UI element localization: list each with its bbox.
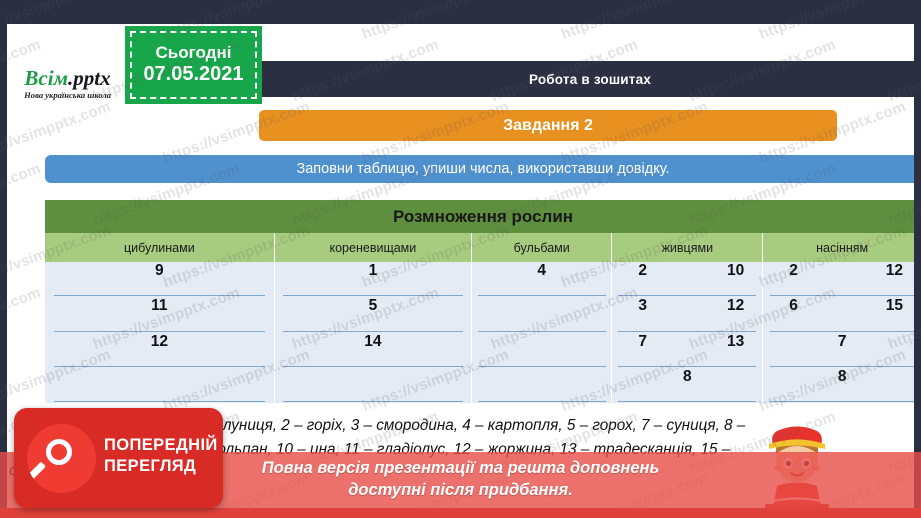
table-cell[interactable] <box>472 368 611 403</box>
table-body: 9111215144210312713821261578 <box>45 262 914 403</box>
watermark-row: https://vsimpptx.comhttps://vsimpptx.com… <box>0 0 921 18</box>
plant-propagation-table: Розмноження рослин цибулинамикореневищам… <box>45 200 914 403</box>
table-cell-value: 14 <box>364 333 381 350</box>
table-column-header: живцями <box>612 233 763 262</box>
table-cell[interactable]: 11 <box>45 297 274 332</box>
brand-logo-tagline: Нова українська школа <box>24 91 111 100</box>
table-cell[interactable]: 8 <box>763 368 914 403</box>
purchase-notice-line2: доступні після придбання. <box>348 480 573 502</box>
slide-viewer: Робота в зошитах Всім.pptx Нова українсь… <box>0 0 921 518</box>
purchase-notice-line1: Повна версія презентації та решта доповн… <box>262 458 660 480</box>
table-cell[interactable] <box>472 297 611 332</box>
today-date-value: 07.05.2021 <box>143 62 243 87</box>
table-column-header: насінням <box>763 233 914 262</box>
magnifier-icon <box>27 424 96 493</box>
table-cell-value: 13 <box>727 333 748 350</box>
table-column-cells: 1514 <box>275 262 472 403</box>
table-title: Розмноження рослин <box>393 207 573 227</box>
today-label: Сьогодні <box>156 43 232 63</box>
magnifier-handle <box>27 462 46 483</box>
table-column-header: цибулинами <box>45 233 275 262</box>
table-cell-value: 2 <box>789 262 798 279</box>
table-cell-value: 8 <box>683 368 692 385</box>
magnifier-lens <box>46 439 72 465</box>
table-cell[interactable]: 1 <box>275 262 471 297</box>
table-cell-value: 7 <box>838 333 847 350</box>
table-cell[interactable]: 12 <box>45 333 274 368</box>
table-cell[interactable]: 210 <box>612 262 762 297</box>
table-cell-value: 1 <box>369 262 378 279</box>
table-cell-value: 9 <box>155 262 164 279</box>
table-cell[interactable]: 14 <box>275 333 471 368</box>
table-cell-value: 4 <box>537 262 546 279</box>
table-cell-value: 8 <box>838 368 847 385</box>
table-cell[interactable]: 8 <box>612 368 762 403</box>
table-cell[interactable]: 9 <box>45 262 274 297</box>
brand-logo-ext: .pptx <box>68 66 111 90</box>
table-column-header: кореневищами <box>275 233 472 262</box>
bottom-red-strip <box>0 508 921 518</box>
table-column-cells: 91112 <box>45 262 275 403</box>
table-title-row: Розмноження рослин <box>45 200 914 233</box>
table-cell-value: 2 <box>638 262 647 279</box>
task-instruction-bar: Заповни таблицю, упиши числа, використав… <box>45 155 914 183</box>
table-cell[interactable]: 312 <box>612 297 762 332</box>
table-cell-value: 3 <box>638 297 647 314</box>
table-cell-value: 11 <box>151 297 167 314</box>
table-header-row: цибулинамикореневищамибульбамиживцяминас… <box>45 233 914 262</box>
task-title-label: Завдання 2 <box>503 117 593 135</box>
table-column-header: бульбами <box>472 233 612 262</box>
table-cell[interactable]: 4 <box>472 262 611 297</box>
table-cell-value: 12 <box>886 262 907 279</box>
table-cell[interactable]: 5 <box>275 297 471 332</box>
table-column-cells: 4 <box>472 262 612 403</box>
table-column-cells: 2103127138 <box>612 262 763 403</box>
table-column-cells: 21261578 <box>763 262 914 403</box>
brand-logo-wordmark: Всім.pptx <box>24 68 110 89</box>
table-cell-value: 12 <box>727 297 748 314</box>
preview-badge-line1: ПОПЕРЕДНІЙ <box>104 435 216 456</box>
table-cell-value: 15 <box>886 297 907 314</box>
slide-header-bar: Робота в зошитах <box>259 61 914 97</box>
table-cell[interactable]: 212 <box>763 262 914 297</box>
brand-logo: Всім.pptx Нова українська школа <box>7 52 128 116</box>
brand-logo-name: Всім <box>24 66 68 90</box>
table-cell[interactable] <box>275 368 471 403</box>
table-cell-value: 10 <box>727 262 748 279</box>
task-title-pill: Завдання 2 <box>259 110 837 141</box>
table-cell-value: 6 <box>789 297 798 314</box>
preview-badge-line2: ПЕРЕГЛЯД <box>104 456 216 477</box>
preview-badge-text: ПОПЕРЕДНІЙ ПЕРЕГЛЯД <box>104 435 216 477</box>
preview-watermark-badge: ПОПЕРЕДНІЙ ПЕРЕГЛЯД <box>14 408 223 508</box>
task-instruction-text: Заповни таблицю, упиши числа, використав… <box>296 161 669 177</box>
table-cell[interactable]: 7 <box>763 333 914 368</box>
table-cell-value: 12 <box>151 333 168 350</box>
table-cell[interactable]: 615 <box>763 297 914 332</box>
table-cell-value: 5 <box>369 297 378 314</box>
table-cell[interactable] <box>472 333 611 368</box>
table-cell-value: 7 <box>638 333 647 350</box>
table-cell[interactable] <box>45 368 274 403</box>
table-cell[interactable]: 713 <box>612 333 762 368</box>
slide-header-title: Робота в зошитах <box>529 72 651 87</box>
today-date-badge: Сьогодні 07.05.2021 <box>125 26 262 104</box>
